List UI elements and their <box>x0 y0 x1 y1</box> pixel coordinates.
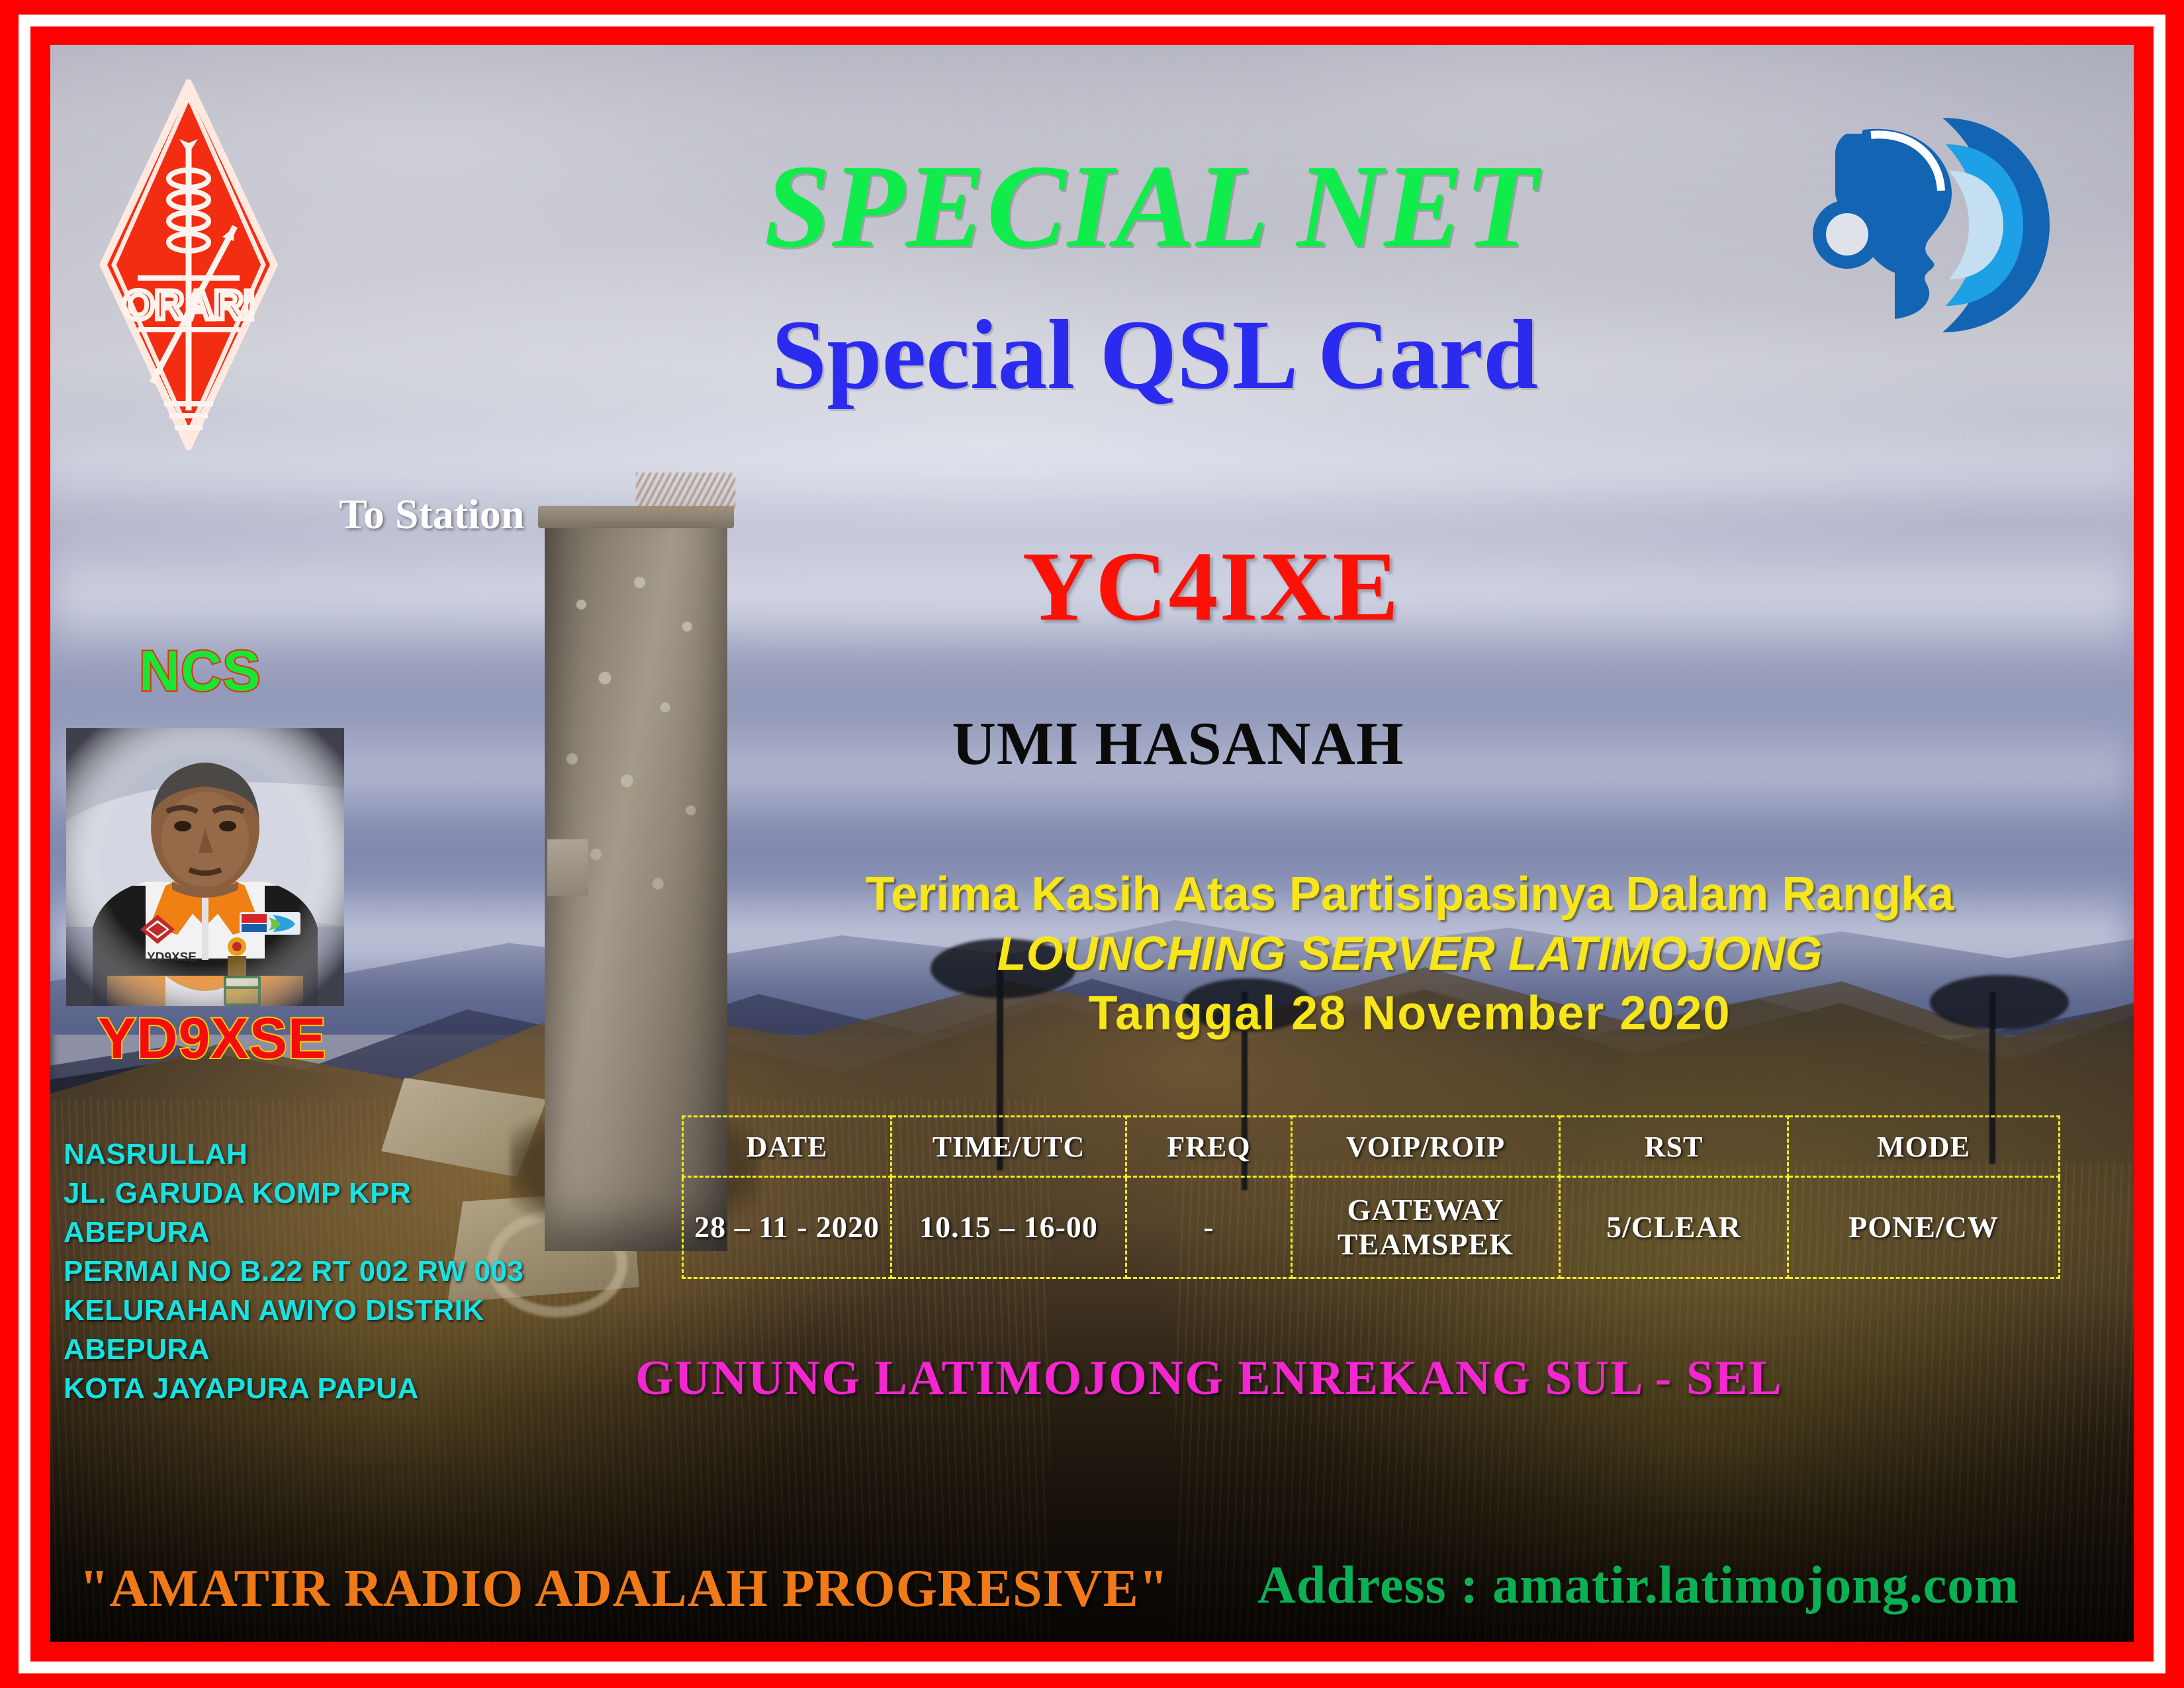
card-content: ORARI SPECIAL NET Special <box>0 0 2184 1688</box>
page-title: SPECIAL NET <box>0 138 2184 275</box>
qso-table: DATE TIME/UTC FREQ VOIP/ROIP RST MODE 28… <box>682 1115 2060 1279</box>
address-line: ABEPURA <box>64 1331 523 1370</box>
qsl-card: ORARI SPECIAL NET Special <box>0 0 2184 1688</box>
address-line: KOTA JAYAPURA PAPUA <box>64 1370 523 1409</box>
address-line: JL. GARUDA KOMP KPR <box>64 1174 523 1213</box>
location-text: GUNUNG LATIMOJONG ENREKANG SUL - SEL <box>635 1350 1893 1407</box>
cell-freq: - <box>1126 1177 1292 1278</box>
cell-time: 10.15 – 16-00 <box>891 1177 1126 1278</box>
column-header-rst: RST <box>1560 1117 1788 1177</box>
cell-rst: 5/CLEAR <box>1560 1177 1788 1278</box>
table-row: 28 – 11 - 2020 10.15 – 16-00 - GATEWAY T… <box>683 1177 2060 1278</box>
cell-mode: PONE/CW <box>1788 1177 2060 1278</box>
ncs-callsign: YD9XSE <box>98 1006 326 1072</box>
ncs-address-block: NASRULLAH JL. GARUDA KOMP KPR ABEPURA PE… <box>64 1135 523 1409</box>
cell-date: 28 – 11 - 2020 <box>683 1177 891 1278</box>
footer-address: Address : amatir.latimojong.com <box>1257 1556 2019 1616</box>
column-header-voip: VOIP/ROIP <box>1292 1117 1560 1177</box>
cell-voip: GATEWAY TEAMSPEK <box>1292 1177 1560 1278</box>
cell-voip-line2: TEAMSPEK <box>1293 1227 1558 1262</box>
event-date: Tanggal 28 November 2020 <box>768 986 2052 1041</box>
cell-voip-line1: GATEWAY <box>1293 1193 1558 1227</box>
column-header-date: DATE <box>683 1117 891 1177</box>
address-line: ABEPURA <box>64 1213 523 1252</box>
page-subtitle: Special QSL Card <box>0 298 2184 412</box>
ncs-operator-photo: YD9XSE <box>66 728 344 1006</box>
footer-motto: "AMATIR RADIO ADALAH PROGRESIVE" <box>79 1559 1169 1619</box>
to-station-operator-name: UMI HASANAH <box>847 708 1509 778</box>
column-header-mode: MODE <box>1788 1117 2060 1177</box>
column-header-freq: FREQ <box>1126 1117 1292 1177</box>
event-name: LOUNCHING SERVER LATIMOJONG <box>768 927 2052 981</box>
table-header-row: DATE TIME/UTC FREQ VOIP/ROIP RST MODE <box>683 1117 2060 1177</box>
to-station-label: To Station <box>339 490 524 539</box>
address-line: PERMAI NO B.22 RT 002 RW 003 <box>64 1252 523 1291</box>
thanks-message: Terima Kasih Atas Partisipasinya Dalam R… <box>768 867 2052 921</box>
address-line: NASRULLAH <box>64 1135 523 1174</box>
to-station-callsign: YC4IXE <box>913 530 1509 643</box>
column-header-time: TIME/UTC <box>891 1117 1126 1177</box>
ncs-label: NCS <box>139 639 261 704</box>
address-line: KELURAHAN AWIYO DISTRIK <box>64 1291 523 1331</box>
